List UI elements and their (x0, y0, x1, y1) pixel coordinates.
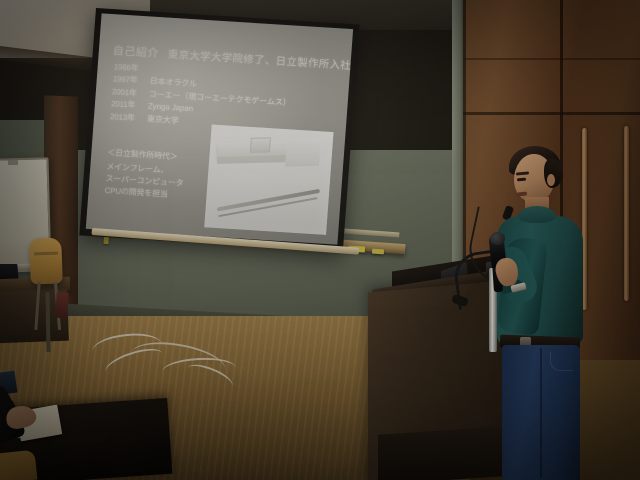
slide-photo (204, 124, 333, 234)
chalk-stick-secondary (372, 249, 384, 255)
door-seam-horizontal (463, 112, 640, 115)
slide-timeline-list: 1986年 1997年 日本オラクル 2001年 コーエー（現コーエーテクモゲー… (110, 61, 293, 134)
presenter-ear (547, 174, 555, 186)
whiteboard-clip (8, 160, 18, 165)
jeans-pocket (550, 352, 573, 371)
presentation-photo-scene: 自己紹介 東京大学大学院修了、日立製作所入社 1986年 1997年 日本オラク… (0, 0, 640, 480)
door-seam-horizontal-upper (463, 58, 640, 60)
presenter-turtleneck-collar (518, 206, 556, 223)
timeline-text: 東京大学 (147, 113, 179, 127)
floor-bag (55, 292, 68, 319)
projection-surface: 自己紹介 東京大学大学院修了、日立製作所入社 1986年 1997年 日本オラク… (86, 13, 353, 244)
timeline-year: 2013年 (110, 111, 141, 125)
presenter (478, 142, 604, 480)
jeans-seam (540, 348, 542, 478)
presentation-slide: 自己紹介 東京大学大学院修了、日立製作所入社 1986年 1997年 日本オラク… (86, 13, 353, 244)
audience-chair (0, 450, 37, 480)
door-handle-right[interactable] (624, 126, 629, 301)
timeline-text (150, 64, 151, 76)
slide-notes-block: ＜日立製作所時代＞ メインフレーム、 スーパーコンピュータ CPUの開発を担当 (104, 147, 185, 202)
slide-heading: 自己紹介 (112, 42, 159, 61)
chair[interactable] (29, 237, 63, 284)
photo-hardware-knob (250, 137, 271, 152)
photo-hardware-block (285, 138, 321, 167)
projection-screen: 自己紹介 東京大学大学院修了、日立製作所入社 1986年 1997年 日本オラク… (79, 8, 359, 252)
presenter-eye (517, 178, 526, 182)
